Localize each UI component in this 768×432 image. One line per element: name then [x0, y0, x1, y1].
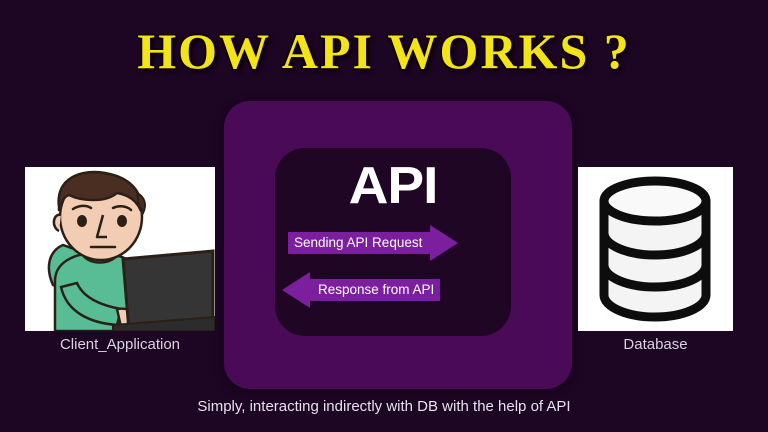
arrow-head-right	[430, 225, 458, 261]
arrow-head-left	[282, 272, 310, 308]
database-cylinder-icon	[578, 167, 733, 331]
slide-caption: Simply, interacting indirectly with DB w…	[0, 398, 768, 415]
arrow-label-request: Sending API Request	[294, 232, 422, 254]
page-title: HOW API WORKS ?	[0, 22, 768, 80]
client-application-card	[25, 167, 215, 331]
slide-canvas: HOW API WORKS ?	[0, 0, 768, 432]
database-label: Database	[578, 336, 733, 353]
arrow-label-response: Response from API	[318, 279, 434, 301]
arrow-sending-api-request: Sending API Request	[288, 225, 458, 261]
arrow-response-from-api: Response from API	[282, 272, 440, 308]
arrow-body: Response from API	[310, 279, 440, 301]
arrow-body: Sending API Request	[288, 232, 430, 254]
client-application-label: Client_Application	[25, 336, 215, 353]
person-at-laptop-icon	[25, 167, 215, 331]
database-card	[578, 167, 733, 331]
api-title: API	[268, 156, 518, 216]
